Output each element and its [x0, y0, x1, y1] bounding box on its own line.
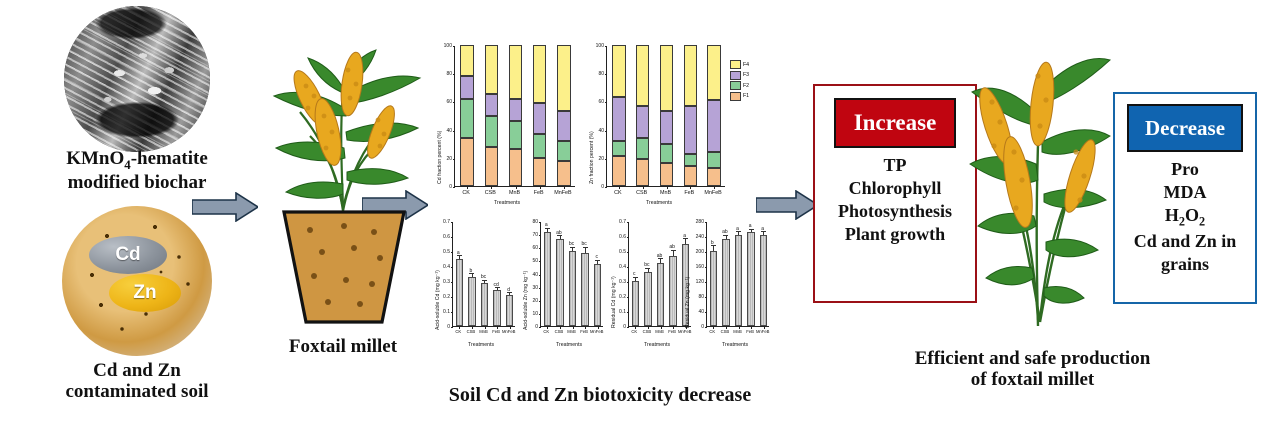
y-tick: [453, 131, 455, 132]
stacked-bar-segment-F3: [557, 111, 571, 141]
y-tick: [705, 327, 707, 328]
y-tick: [627, 297, 629, 298]
chart-residual-zn-xlabel: Treatments: [722, 342, 748, 348]
y-tick-label: 40: [522, 272, 538, 278]
y-tick-label: 0: [590, 184, 604, 190]
y-tick: [539, 261, 541, 262]
error-bar: [509, 293, 510, 295]
y-tick-label: 80: [688, 294, 704, 300]
y-tick-label: 60: [590, 99, 604, 105]
bar: [481, 283, 489, 327]
significance-letter: bc: [641, 262, 653, 268]
error-bar: [648, 268, 649, 272]
error-bar: [459, 256, 460, 259]
significance-letter: ab: [666, 244, 678, 250]
stacked-bar: [533, 45, 547, 186]
y-tick-label: 280: [688, 219, 704, 225]
stacked-bar-segment-F3: [509, 99, 523, 122]
y-tick: [605, 187, 607, 188]
stacked-bar-segment-F1: [707, 168, 720, 186]
bar: [710, 251, 718, 326]
y-tick: [451, 282, 453, 283]
stacked-bar-segment-F4: [460, 45, 474, 76]
cd-badge: Cd: [89, 236, 167, 274]
significance-letter: bc: [578, 241, 590, 247]
y-tick-label: 0.1: [610, 309, 626, 315]
stacked-bar-segment-F2: [707, 152, 720, 168]
stacked-bar-segment-F3: [485, 94, 499, 115]
bar: [456, 259, 464, 327]
x-tick: [714, 187, 715, 189]
x-tick: [643, 187, 644, 189]
result-item: Plant growth: [815, 223, 975, 246]
y-tick: [705, 297, 707, 298]
y-tick: [705, 237, 707, 238]
stacked-bar: [684, 45, 697, 186]
y-tick-label: 0.2: [434, 294, 450, 300]
y-tick: [451, 222, 453, 223]
decrease-items: ProMDAH2O2Cd and Zn ingrains: [1115, 158, 1255, 276]
significance-letter: bc: [478, 274, 490, 280]
y-tick: [451, 327, 453, 328]
y-tick-label: 0.1: [434, 309, 450, 315]
stacked-bar-segment-F2: [684, 154, 697, 167]
stacked-bar-segment-F2: [509, 121, 523, 149]
y-tick: [705, 252, 707, 253]
stacked-bar-segment-F2: [533, 134, 547, 158]
x-tick: [619, 187, 620, 189]
y-tick-label: 80: [438, 71, 452, 77]
x-tick-label: MnFeB: [549, 190, 577, 196]
y-tick-label: 30: [522, 285, 538, 291]
stacked-bar-segment-F1: [533, 158, 547, 186]
biochar-caption: KMnO4-hematite modified biochar: [14, 148, 260, 194]
zn-badge: Zn: [109, 274, 181, 312]
stacked-bar-segment-F2: [636, 138, 649, 159]
y-tick-label: 0.6: [434, 234, 450, 240]
stacked-bar-segment-F4: [684, 45, 697, 106]
contaminated-soil-illustration: Cd Zn: [62, 206, 212, 356]
y-tick: [705, 222, 707, 223]
y-tick-label: 20: [590, 156, 604, 162]
error-bar: [713, 246, 714, 251]
x-tick: [540, 187, 541, 189]
y-tick-label: 100: [590, 43, 604, 49]
y-tick-label: 0: [434, 324, 450, 330]
y-tick-label: 0: [688, 324, 704, 330]
significance-letter: a: [452, 250, 464, 256]
bar: [493, 290, 501, 326]
y-tick-label: 0.3: [434, 279, 450, 285]
legend-swatch: [730, 71, 741, 80]
bar: [747, 232, 755, 326]
y-tick-label: 0.3: [610, 279, 626, 285]
chart-acid-soluble-cd: Acid-soluble Cd (mg kg⁻¹) Treatments 00.…: [432, 212, 518, 352]
biochar-caption-line1: KMnO4-hematite: [66, 148, 208, 169]
stacked-bar-segment-F4: [636, 45, 649, 106]
stacked-bar-segment-F1: [612, 156, 625, 186]
bar: [544, 232, 552, 327]
y-tick: [453, 46, 455, 47]
y-tick: [453, 187, 455, 188]
y-tick-label: 40: [688, 309, 704, 315]
y-tick-label: 200: [688, 249, 704, 255]
error-bar: [726, 235, 727, 239]
stacked-bar-segment-F2: [557, 141, 571, 161]
y-tick-label: 20: [438, 156, 452, 162]
x-tick: [491, 187, 492, 189]
stacked-bar-segment-F2: [485, 116, 499, 147]
soil-caption-line1: Cd and Zn: [93, 360, 181, 381]
error-bar: [472, 274, 473, 277]
healthy-foxtail-millet-illustration: [960, 30, 1115, 330]
y-tick-label: 50: [522, 258, 538, 264]
increase-panel: Increase TPChlorophyllPhotosynthesisPlan…: [813, 84, 977, 303]
y-tick-label: 0: [438, 184, 452, 190]
chart-residual-cd-xlabel: Treatments: [644, 342, 670, 348]
chart-cd-fraction-xlabel: Treatments: [494, 200, 520, 206]
significance-letter: ab: [719, 229, 731, 235]
stacked-bar-segment-F1: [509, 149, 523, 186]
significance-letter: bc: [566, 241, 578, 247]
foxtail-millet-caption: Foxtail millet: [248, 336, 438, 357]
final-caption-line1: Efficient and safe production: [915, 348, 1151, 369]
y-tick: [539, 314, 541, 315]
increase-items: TPChlorophyllPhotosynthesisPlant growth: [815, 154, 975, 246]
stacked-bar-segment-F4: [485, 45, 499, 94]
stacked-bar-segment-F4: [557, 45, 571, 111]
legend-row: F4: [730, 60, 749, 69]
final-caption-line2: of foxtail millet: [971, 369, 1094, 390]
result-item: Chlorophyll: [815, 177, 975, 200]
y-tick: [539, 235, 541, 236]
y-tick: [539, 301, 541, 302]
stacked-bar: [557, 45, 571, 186]
y-tick: [705, 267, 707, 268]
chart-residual-zn: Residual Zn (mg kg⁻¹) Treatments 0408012…: [682, 208, 774, 352]
error-bar: [597, 260, 598, 264]
legend-label: F2: [743, 83, 749, 89]
result-item: MDA: [1115, 181, 1255, 204]
chart-acid-soluble-cd-xlabel: Treatments: [468, 342, 494, 348]
legend-row: F3: [730, 71, 749, 80]
y-tick: [451, 297, 453, 298]
sem-micrograph-image: [64, 6, 210, 152]
biochar-caption-line2: modified biochar: [68, 172, 207, 193]
significance-letter: a: [757, 226, 769, 232]
y-tick: [605, 74, 607, 75]
soil-caption-line2: contaminated soil: [65, 381, 208, 402]
y-tick-label: 80: [522, 219, 538, 225]
stacked-bar-segment-F1: [684, 166, 697, 186]
stacked-bar: [509, 45, 523, 186]
y-tick: [627, 222, 629, 223]
y-tick: [539, 327, 541, 328]
chart-acid-soluble-zn-xlabel: Treatments: [556, 342, 582, 348]
significance-letter: d: [503, 287, 515, 293]
stacked-bar-segment-F1: [636, 159, 649, 186]
significance-letter: b: [465, 268, 477, 274]
y-tick-label: 40: [590, 128, 604, 134]
significance-letter: a: [540, 222, 552, 228]
x-tick: [467, 187, 468, 189]
charts-panel: Cd fraction percent (%) Treatments 02040…: [432, 34, 772, 384]
x-tick: [564, 187, 565, 189]
y-tick: [451, 312, 453, 313]
y-tick-label: 0.5: [610, 249, 626, 255]
error-bar: [673, 250, 674, 255]
y-tick-label: 0.5: [434, 249, 450, 255]
y-tick: [627, 282, 629, 283]
stacked-bar-segment-F1: [557, 161, 571, 186]
y-tick-label: 0.4: [434, 264, 450, 270]
error-bar: [547, 228, 548, 231]
stacked-bar: [485, 45, 499, 186]
y-tick-label: 0.7: [434, 219, 450, 225]
result-item: Pro: [1115, 158, 1255, 181]
y-tick-label: 0.4: [610, 264, 626, 270]
legend-swatch: [730, 60, 741, 69]
stacked-bar-segment-F2: [660, 144, 673, 164]
y-tick-label: 0.7: [610, 219, 626, 225]
bar: [632, 281, 640, 326]
error-bar: [560, 236, 561, 239]
legend-label: F1: [743, 93, 749, 99]
y-tick-label: 0.6: [610, 234, 626, 240]
y-tick-label: 0: [610, 324, 626, 330]
y-tick-label: 120: [688, 279, 704, 285]
legend-label: F3: [743, 72, 749, 78]
y-tick-label: 0.2: [610, 294, 626, 300]
bar: [669, 256, 677, 327]
legend-row: F1: [730, 92, 749, 101]
significance-letter: c: [628, 271, 640, 277]
legend-label: F4: [743, 62, 749, 68]
stacked-bar-segment-F3: [707, 100, 720, 152]
y-tick: [539, 275, 541, 276]
bar: [722, 239, 730, 326]
chart-cd-fraction: Cd fraction percent (%) Treatments 02040…: [432, 34, 582, 209]
stacked-bar-segment-F3: [612, 97, 625, 141]
chart-acid-soluble-zn: Acid-soluble Zn (mg kg⁻¹) Treatments 010…: [520, 212, 606, 352]
significance-letter: c: [591, 254, 603, 260]
error-bar: [660, 259, 661, 264]
error-bar: [484, 280, 485, 282]
result-item: Photosynthesis: [815, 200, 975, 223]
bar: [735, 235, 743, 326]
stacked-bar-segment-F3: [460, 76, 474, 99]
bar: [644, 272, 652, 326]
y-tick: [605, 46, 607, 47]
legend-row: F2: [730, 81, 749, 90]
y-tick-label: 40: [438, 128, 452, 134]
y-tick: [605, 102, 607, 103]
stacked-bar: [660, 45, 673, 186]
significance-letter: b: [706, 240, 718, 246]
error-bar: [635, 277, 636, 281]
stacked-bar-segment-F1: [660, 163, 673, 186]
y-tick: [539, 248, 541, 249]
legend-swatch: [730, 81, 741, 90]
chart-zn-fraction: Zn fraction percent (%) F4F3F2F1 Treatme…: [584, 34, 774, 209]
y-tick: [451, 267, 453, 268]
bar: [506, 295, 514, 327]
significance-letter: cd: [490, 282, 502, 288]
bar: [569, 251, 577, 326]
stacked-bar: [707, 45, 720, 186]
stacked-bar-segment-F3: [533, 103, 547, 134]
x-tick: [690, 187, 691, 189]
bar: [581, 253, 589, 327]
legend-swatch: [730, 92, 741, 101]
stacked-bar-segment-F4: [533, 45, 547, 103]
chart-zn-fraction-xlabel: Treatments: [646, 200, 672, 206]
y-tick: [627, 327, 629, 328]
decrease-panel: Decrease ProMDAH2O2Cd and Zn ingrains: [1113, 92, 1257, 304]
stacked-bar-segment-F3: [660, 111, 673, 143]
stacked-bar: [612, 45, 625, 186]
y-tick-label: 20: [522, 298, 538, 304]
bar: [657, 263, 665, 326]
potted-foxtail-millet-illustration: [248, 36, 438, 326]
stacked-bar-segment-F4: [509, 45, 523, 99]
stacked-bar-segment-F4: [707, 45, 720, 100]
error-bar: [585, 247, 586, 252]
stacked-bar-segment-F1: [460, 138, 474, 186]
stacked-bar-segment-F3: [636, 106, 649, 138]
y-tick: [605, 159, 607, 160]
y-tick: [627, 252, 629, 253]
y-tick: [453, 74, 455, 75]
y-tick: [627, 312, 629, 313]
y-tick: [627, 267, 629, 268]
result-item: TP: [815, 154, 975, 177]
significance-letter: ab: [654, 253, 666, 259]
x-tick: [667, 187, 668, 189]
stacked-bar: [460, 45, 474, 186]
y-tick: [705, 282, 707, 283]
y-tick: [453, 102, 455, 103]
error-bar: [572, 247, 573, 251]
stacked-bar-segment-F4: [660, 45, 673, 111]
error-bar: [738, 232, 739, 235]
error-bar: [497, 288, 498, 290]
y-tick-label: 80: [590, 71, 604, 77]
soil-caption: Cd and Zn contaminated soil: [8, 360, 266, 403]
final-caption: Efficient and safe production of foxtail…: [870, 348, 1195, 391]
x-tick: [516, 187, 517, 189]
result-item: grains: [1115, 253, 1255, 276]
stacked-bar-segment-F2: [612, 141, 625, 157]
x-tick-label: MnFeB: [588, 329, 606, 334]
bar: [760, 235, 768, 326]
y-tick: [451, 237, 453, 238]
y-tick-label: 0: [522, 324, 538, 330]
y-tick: [539, 288, 541, 289]
chart-zn-fraction-legend: F4F3F2F1: [730, 60, 749, 102]
y-tick-label: 60: [522, 245, 538, 251]
bar: [556, 239, 564, 326]
y-tick: [453, 159, 455, 160]
significance-letter: a: [732, 226, 744, 232]
x-tick-label: MnFeB: [754, 329, 772, 334]
error-bar: [751, 229, 752, 232]
result-item: Cd and Zn in: [1115, 230, 1255, 253]
biotoxicity-caption: Soil Cd and Zn biotoxicity decrease: [392, 384, 808, 406]
y-tick-label: 70: [522, 232, 538, 238]
error-bar: [763, 232, 764, 235]
significance-letter: a: [744, 223, 756, 229]
y-tick-label: 160: [688, 264, 704, 270]
y-tick-label: 100: [438, 43, 452, 49]
bar: [468, 277, 476, 327]
stacked-bar-segment-F3: [684, 106, 697, 154]
x-tick-label: MnFeB: [699, 190, 727, 196]
stacked-bar-segment-F2: [460, 99, 474, 138]
bar: [594, 264, 602, 326]
y-tick-label: 10: [522, 311, 538, 317]
y-tick-label: 60: [438, 99, 452, 105]
y-tick: [605, 131, 607, 132]
decrease-header: Decrease: [1127, 104, 1243, 152]
y-tick-label: 240: [688, 234, 704, 240]
increase-header: Increase: [834, 98, 956, 148]
significance-letter: ab: [553, 230, 565, 236]
stacked-bar: [636, 45, 649, 186]
stacked-bar-segment-F1: [485, 147, 499, 186]
y-tick: [627, 237, 629, 238]
x-tick-label: MnFeB: [500, 329, 518, 334]
stacked-bar-segment-F4: [612, 45, 625, 97]
y-tick: [705, 312, 707, 313]
result-item: H2O2: [1115, 204, 1255, 230]
